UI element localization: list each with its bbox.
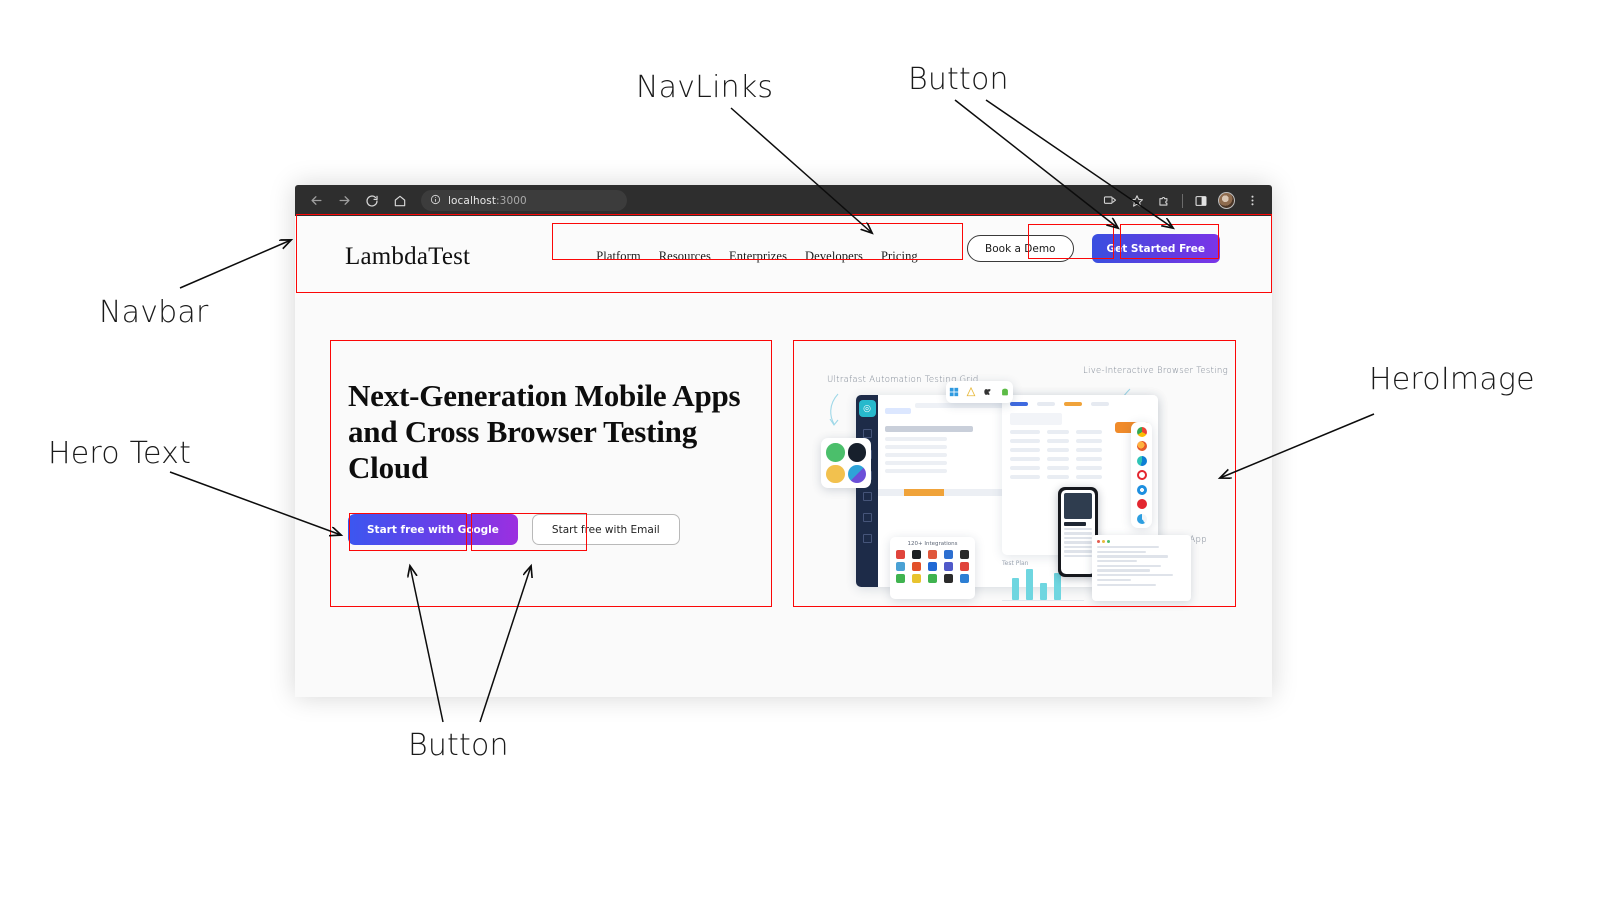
back-arrow-icon[interactable] — [303, 188, 329, 214]
hero-text-block: Next-Generation Mobile Apps and Cross Br… — [331, 345, 770, 608]
circleci-icon — [960, 550, 969, 559]
linux-icon — [966, 387, 976, 397]
app-mock-row — [885, 453, 947, 457]
testing-tools-popover — [821, 438, 871, 488]
klarna-icon — [912, 574, 921, 583]
home-icon[interactable] — [387, 188, 413, 214]
browser-window: localhost:3000 LambdaTest — [295, 185, 1272, 697]
nav-link-developers[interactable]: Developers — [805, 249, 863, 264]
annotation-label-hero-text: Hero Text — [48, 436, 191, 471]
toolbar-divider — [1182, 194, 1183, 208]
app-logo-icon: ◎ — [859, 400, 876, 417]
app-mock-row — [885, 437, 947, 441]
azure-icon — [960, 574, 969, 583]
jenkins-x-icon — [928, 574, 937, 583]
app-chip — [885, 408, 911, 414]
panel-row — [1010, 466, 1150, 470]
phone-line — [1064, 532, 1092, 535]
opera-gx-icon — [1137, 499, 1147, 509]
cypress-icon — [848, 443, 867, 462]
connector-curve-grid — [824, 393, 850, 427]
hero-title: Next-Generation Mobile Apps and Cross Br… — [331, 345, 770, 485]
browser-toolbar: localhost:3000 — [295, 185, 1272, 216]
edge-icon — [1137, 456, 1147, 466]
panel-input — [1010, 413, 1062, 425]
annotation-label-navlinks: NavLinks — [636, 70, 773, 105]
get-started-free-button[interactable]: Get Started Free — [1092, 234, 1221, 263]
gitlab-icon — [912, 562, 921, 571]
selenium-icon — [826, 443, 845, 462]
browsers-popover — [1131, 422, 1152, 528]
phone-line — [1064, 546, 1092, 549]
android-icon — [1000, 387, 1010, 397]
panel-row — [1010, 439, 1150, 443]
app-mock-row — [885, 469, 947, 473]
page-content: LambdaTest Platform Resources Enterprize… — [295, 216, 1272, 697]
rail-icon — [863, 513, 872, 522]
code-snippet-card — [1092, 535, 1191, 601]
annotation-label-button-top: Button — [908, 62, 1009, 97]
rail-icon — [863, 429, 872, 438]
asana-icon — [896, 574, 905, 583]
extensions-puzzle-icon[interactable] — [1154, 191, 1174, 211]
start-free-with-google-button[interactable]: Start free with Google — [348, 514, 518, 545]
label-live-interactive-browser-testing: Live-Interactive Browser Testing — [1083, 365, 1228, 378]
intercom-icon — [960, 562, 969, 571]
phone-line — [1064, 550, 1092, 553]
start-free-with-email-button[interactable]: Start free with Email — [532, 514, 680, 545]
rail-icon — [863, 492, 872, 501]
annotation-label-hero-image: HeroImage — [1369, 362, 1535, 397]
puppeteer-icon — [826, 465, 845, 484]
os-platform-popover — [946, 381, 1013, 403]
hero-section: Next-Generation Mobile Apps and Cross Br… — [295, 345, 1272, 608]
panel-row — [1010, 457, 1150, 461]
hero-illustration: Ultrafast Automation Testing Grid Live-I… — [794, 345, 1236, 608]
panel-tabs — [1010, 402, 1150, 406]
annotation-label-button-bottom: Button — [408, 728, 509, 763]
phone-line — [1064, 555, 1092, 558]
toolbar-right-actions — [1100, 191, 1264, 211]
integrations-popover: 120+ Integrations — [890, 537, 975, 599]
book-a-demo-button[interactable]: Book a Demo — [967, 235, 1073, 262]
forward-arrow-icon[interactable] — [331, 188, 357, 214]
nav-link-pricing[interactable]: Pricing — [881, 249, 918, 264]
github-icon — [912, 550, 921, 559]
app-mock-row — [885, 445, 947, 449]
travis-ci-icon — [944, 574, 953, 583]
jira-icon — [928, 550, 937, 559]
phone-line — [1064, 541, 1092, 544]
phone-line — [1064, 528, 1092, 531]
app-sidebar-rail: ◎ — [856, 395, 878, 587]
info-circle-icon[interactable] — [430, 192, 441, 210]
bitbucket-icon — [928, 562, 937, 571]
nav-link-resources[interactable]: Resources — [659, 249, 711, 264]
nav-link-enterprizes[interactable]: Enterprizes — [729, 249, 787, 264]
integrations-grid — [894, 550, 971, 583]
brand-logo[interactable]: LambdaTest — [345, 243, 470, 271]
address-bar[interactable]: localhost:3000 — [421, 190, 627, 211]
rail-icon — [863, 534, 872, 543]
kebab-menu-icon[interactable] — [1242, 191, 1262, 211]
jenkins-icon — [896, 550, 905, 559]
panel-row — [1010, 475, 1150, 479]
avatar-icon[interactable] — [1218, 192, 1235, 209]
app-mock-title — [885, 426, 973, 432]
windows-icon — [949, 387, 959, 397]
side-panel-icon[interactable] — [1191, 191, 1211, 211]
playwright-icon — [848, 465, 867, 484]
panel-row — [1010, 448, 1150, 452]
opera-icon — [1137, 470, 1147, 480]
samsung-internet-icon — [1137, 514, 1147, 524]
integrations-title: 120+ Integrations — [894, 541, 971, 547]
phone-screen — [1061, 490, 1095, 574]
phone-headline — [1064, 522, 1086, 526]
slack-icon — [896, 562, 905, 571]
safari-icon — [1137, 485, 1147, 495]
trello-icon — [944, 550, 953, 559]
phone-line — [1064, 537, 1092, 540]
firefox-icon — [1137, 441, 1147, 451]
reload-icon[interactable] — [359, 188, 385, 214]
app-mock-row — [885, 461, 947, 465]
phone-hero-image — [1064, 493, 1092, 519]
url-text: localhost:3000 — [448, 195, 527, 207]
window-dots — [1097, 540, 1186, 543]
msteams-icon — [944, 562, 953, 571]
share-screen-icon[interactable] — [1100, 191, 1120, 211]
nav-link-platform[interactable]: Platform — [596, 249, 641, 264]
hero-image-block: Ultrafast Automation Testing Grid Live-I… — [794, 345, 1236, 608]
annotation-label-navbar: Navbar — [99, 295, 209, 330]
nav-links: Platform Resources Enterprizes Developer… — [552, 235, 962, 277]
star-icon[interactable] — [1127, 191, 1147, 211]
hero-cta-group: Start free with Google Start free with E… — [331, 485, 770, 545]
nav-actions: Book a Demo Get Started Free — [967, 234, 1220, 263]
chrome-icon — [1137, 427, 1147, 437]
site-navbar: LambdaTest Platform Resources Enterprize… — [295, 216, 1272, 298]
apple-icon — [983, 387, 993, 397]
